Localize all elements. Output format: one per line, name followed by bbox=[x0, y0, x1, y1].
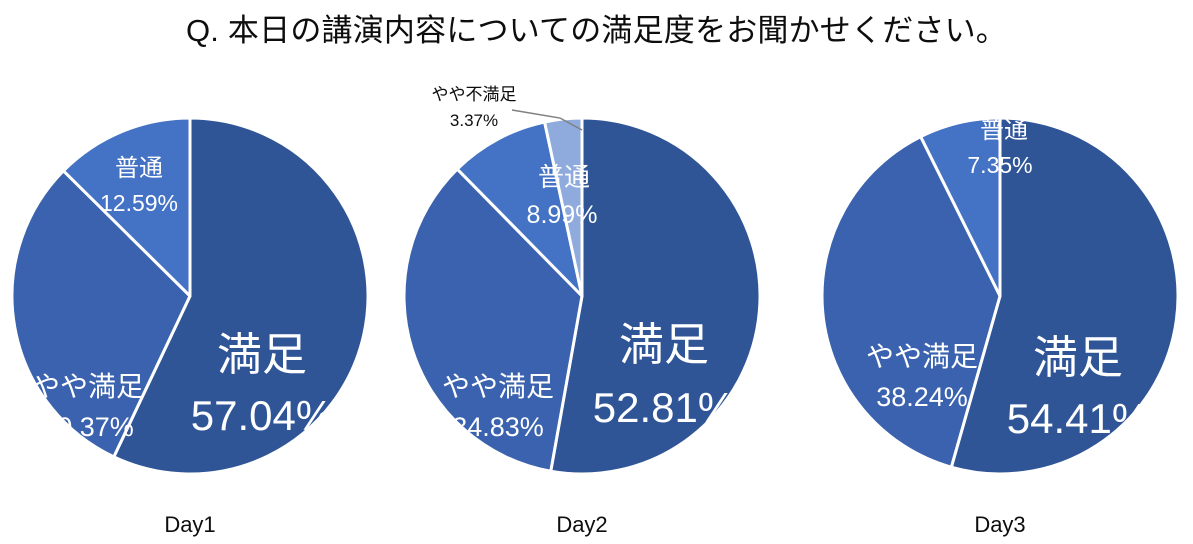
slice-label-neutral-name: 普通 bbox=[115, 155, 163, 182]
pie-charts-row: 満足 57.04% やや満足 30.37% 普通 12.59% Day1 満足 … bbox=[0, 78, 1193, 544]
slice-label-neutral-name: 普通 bbox=[980, 117, 1028, 144]
slice-label-somewhat-satisfied-name: やや満足 bbox=[32, 371, 144, 402]
pie-svg-day2: 満足 52.81% やや満足 34.83% 普通 8.99% やや不満足 3.3… bbox=[392, 78, 772, 508]
callout-label-somewhat-dissatisfied-value: 3.37% bbox=[450, 111, 498, 130]
slice-label-satisfied-name: 満足 bbox=[1033, 332, 1123, 383]
slice-label-satisfied-value: 52.81% bbox=[593, 384, 735, 431]
slice-label-somewhat-satisfied-value: 30.37% bbox=[42, 412, 134, 442]
slice-label-somewhat-satisfied-value: 34.83% bbox=[452, 412, 544, 442]
slice-label-neutral-value: 8.99% bbox=[527, 201, 598, 229]
pie-svg-day3: 満足 54.41% やや満足 38.24% 普通 7.35% bbox=[810, 78, 1190, 508]
slice-label-satisfied-value: 57.04% bbox=[191, 392, 333, 439]
pie-chart-day3[interactable]: 満足 54.41% やや満足 38.24% 普通 7.35% Day3 bbox=[810, 78, 1190, 544]
callout-label-somewhat-dissatisfied-name: やや不満足 bbox=[432, 85, 517, 104]
slice-label-somewhat-satisfied-name: やや満足 bbox=[866, 341, 978, 372]
pie-chart-day1[interactable]: 満足 57.04% やや満足 30.37% 普通 12.59% Day1 bbox=[0, 78, 380, 544]
slice-label-neutral-name: 普通 bbox=[538, 162, 590, 192]
chart-caption-day3: Day3 bbox=[810, 512, 1190, 538]
chart-caption-day2: Day2 bbox=[392, 512, 772, 538]
slice-label-somewhat-satisfied-value: 38.24% bbox=[876, 382, 968, 412]
pie-svg-day1: 満足 57.04% やや満足 30.37% 普通 12.59% bbox=[0, 78, 380, 508]
pie-chart-day2[interactable]: 満足 52.81% やや満足 34.83% 普通 8.99% やや不満足 3.3… bbox=[392, 78, 772, 544]
page-title: Q. 本日の講演内容についての満足度をお聞かせください。 bbox=[0, 12, 1193, 51]
slice-label-neutral-value: 7.35% bbox=[967, 152, 1032, 178]
slice-label-satisfied-value: 54.41% bbox=[1007, 395, 1149, 442]
slice-label-satisfied-name: 満足 bbox=[619, 319, 709, 370]
slice-label-satisfied-name: 満足 bbox=[217, 329, 307, 380]
chart-caption-day1: Day1 bbox=[0, 512, 380, 538]
slice-label-somewhat-satisfied-name: やや満足 bbox=[442, 371, 554, 402]
slice-label-neutral-value: 12.59% bbox=[100, 190, 178, 216]
